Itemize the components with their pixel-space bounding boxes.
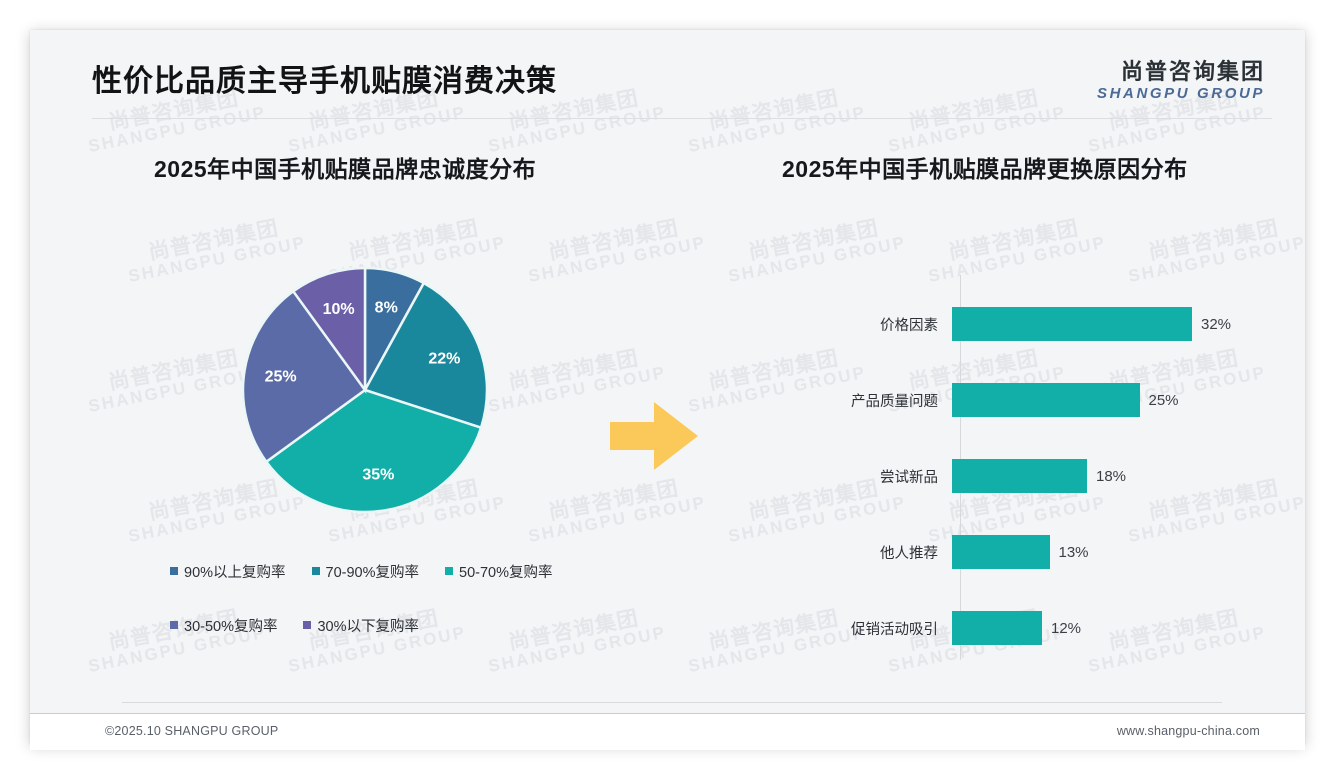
logo-text-en: SHANGPU GROUP <box>1097 84 1265 104</box>
pie-legend-label: 50-70%复购率 <box>459 561 552 582</box>
pie-legend-label: 30%以下复购率 <box>317 615 419 636</box>
bar-value-label: 32% <box>1192 316 1231 333</box>
copyright-text: ©2025.10 SHANGPU GROUP <box>105 724 278 738</box>
bar-chart-plot: 价格因素32%产品质量问题25%尝试新品18%他人推荐13%促销活动吸引12% <box>720 255 1280 675</box>
bar-row: 促销活动吸引12% <box>720 611 1280 645</box>
pie-legend-row: 90%以上复购率70-90%复购率50-70%复购率 <box>170 558 640 584</box>
bar-value-label: 12% <box>1042 620 1081 637</box>
website-link[interactable]: www.shangpu-china.com <box>1117 724 1260 738</box>
bar-category-label: 价格因素 <box>720 314 952 335</box>
pie-legend-item[interactable]: 30-50%复购率 <box>170 615 277 636</box>
bar-chart-title: 2025年中国手机贴膜品牌更换原因分布 <box>782 150 1280 184</box>
pie-chart-panel: 2025年中国手机贴膜品牌忠诚度分布 8%22%35%25%10% 90%以上复… <box>92 150 652 670</box>
bar-value-label: 25% <box>1140 392 1179 409</box>
bar-fill[interactable] <box>952 611 1042 645</box>
legend-swatch-icon <box>170 621 178 629</box>
slide: 尚普咨询集团SHANGPU GROUP尚普咨询集团SHANGPU GROUP尚普… <box>30 30 1305 745</box>
pie-legend: 90%以上复购率70-90%复购率50-70%复购率30-50%复购率30%以下… <box>170 558 640 666</box>
slide-header: 性价比品质主导手机贴膜消费决策 尚普咨询集团 SHANGPU GROUP <box>30 30 1305 122</box>
bar-category-label: 尝试新品 <box>720 466 952 487</box>
bar-row: 产品质量问题25% <box>720 383 1280 417</box>
pie-slice-label: 25% <box>265 369 297 386</box>
header-divider <box>92 118 1272 119</box>
pie-legend-item[interactable]: 50-70%复购率 <box>445 561 552 582</box>
legend-swatch-icon <box>170 567 178 575</box>
pie-legend-label: 30-50%复购率 <box>184 615 277 636</box>
bar-row: 尝试新品18% <box>720 459 1280 493</box>
bar-value-label: 13% <box>1050 544 1089 561</box>
page-title: 性价比品质主导手机贴膜消费决策 <box>92 56 557 100</box>
pie-slice-label: 35% <box>362 466 394 483</box>
pie-slice-label: 8% <box>375 299 398 316</box>
bar-value-label: 18% <box>1087 468 1126 485</box>
bar-fill[interactable] <box>952 459 1087 493</box>
arrow-right-icon <box>608 398 700 474</box>
bar-category-label: 产品质量问题 <box>720 390 952 411</box>
bar-fill[interactable] <box>952 307 1192 341</box>
footnote-divider <box>122 702 1222 703</box>
brand-logo: 尚普咨询集团 SHANGPU GROUP <box>1097 60 1265 104</box>
pie-legend-label: 70-90%复购率 <box>326 561 419 582</box>
pie-legend-label: 90%以上复购率 <box>184 561 286 582</box>
pie-slice-label: 10% <box>323 301 355 318</box>
pie-legend-item[interactable]: 30%以下复购率 <box>303 615 419 636</box>
bar-category-label: 促销活动吸引 <box>720 618 952 639</box>
slide-footer: ©2025.10 SHANGPU GROUP www.shangpu-china… <box>30 713 1305 750</box>
pie-svg: 8%22%35%25%10% <box>220 250 520 540</box>
pie-chart-title: 2025年中国手机贴膜品牌忠诚度分布 <box>154 150 652 184</box>
pie-legend-row: 30-50%复购率30%以下复购率 <box>170 612 640 638</box>
bar-fill[interactable] <box>952 383 1140 417</box>
bar-category-label: 他人推荐 <box>720 542 952 563</box>
pie-chart-plot: 8%22%35%25%10% <box>92 250 652 550</box>
logo-text-cn: 尚普咨询集团 <box>1097 60 1265 84</box>
pie-legend-item[interactable]: 70-90%复购率 <box>312 561 419 582</box>
bar-chart-panel: 2025年中国手机贴膜品牌更换原因分布 价格因素32%产品质量问题25%尝试新品… <box>720 150 1280 670</box>
bar-fill[interactable] <box>952 535 1050 569</box>
slide-canvas: 尚普咨询集团SHANGPU GROUP尚普咨询集团SHANGPU GROUP尚普… <box>0 0 1340 780</box>
pie-legend-item[interactable]: 90%以上复购率 <box>170 561 286 582</box>
bar-row: 价格因素32% <box>720 307 1280 341</box>
legend-swatch-icon <box>312 567 320 575</box>
legend-swatch-icon <box>303 621 311 629</box>
legend-swatch-icon <box>445 567 453 575</box>
bar-row: 他人推荐13% <box>720 535 1280 569</box>
pie-slice-label: 22% <box>428 351 460 368</box>
